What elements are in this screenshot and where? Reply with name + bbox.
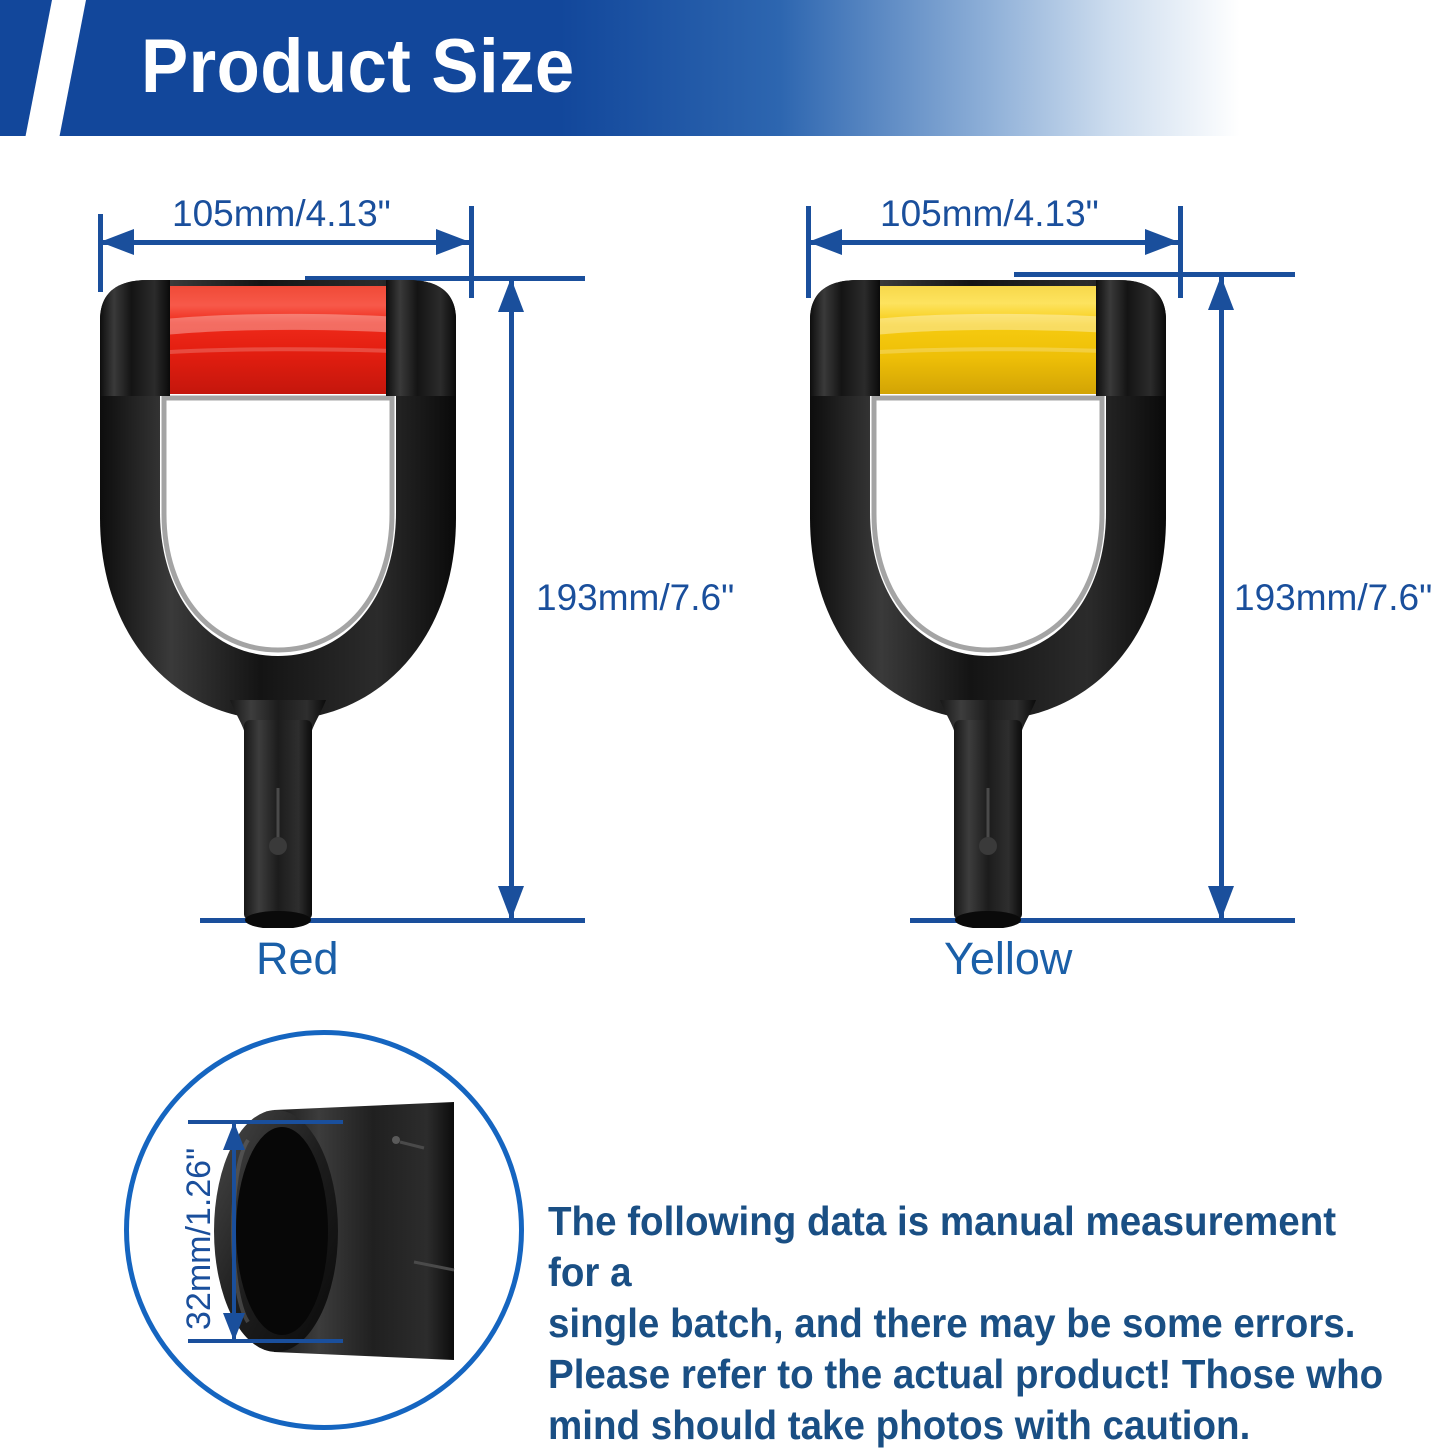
red-height-dimension-line	[509, 278, 514, 920]
disclaimer-line-4: mind should take photos with caution.	[548, 1400, 1394, 1451]
inset-dim-line	[232, 1122, 236, 1341]
disclaimer-line-1: The following data is manual measurement…	[548, 1196, 1394, 1298]
header-banner: Product Size	[0, 0, 1445, 136]
socket-pin-hole	[979, 837, 997, 855]
product-image-yellow	[788, 268, 1188, 928]
red-width-arrow-left-icon	[100, 229, 134, 255]
handle-grip	[838, 286, 1138, 394]
yellow-height-arrow-up-icon	[1208, 276, 1234, 310]
disclaimer-text: The following data is manual measurement…	[548, 1196, 1394, 1451]
yellow-handle-illustration	[788, 268, 1188, 928]
red-width-arrow-right-icon	[436, 229, 470, 255]
yellow-width-label: 105mm/4.13"	[880, 192, 1099, 236]
handle-grip	[128, 286, 428, 394]
handle-frame-opening	[160, 388, 396, 656]
yellow-height-arrow-down-icon	[1208, 886, 1234, 920]
red-width-dimension-line	[100, 240, 470, 245]
red-width-label: 105mm/4.13"	[172, 192, 391, 236]
handle-frame-opening	[870, 388, 1106, 656]
grip-end-cap-right	[386, 280, 456, 396]
socket-pin-hole	[269, 837, 287, 855]
inset-dim-extension-top	[188, 1120, 343, 1124]
product-label-yellow: Yellow	[944, 932, 1072, 986]
inset-dim-arrow-down-icon	[223, 1313, 245, 1341]
yellow-width-arrow-left-icon	[808, 229, 842, 255]
inset-dim-arrow-up-icon	[223, 1122, 245, 1150]
yellow-height-dimension-line	[1219, 276, 1224, 920]
disclaimer-line-2: single batch, and there may be some erro…	[548, 1298, 1394, 1349]
red-height-arrow-up-icon	[498, 278, 524, 312]
red-height-arrow-down-icon	[498, 886, 524, 920]
inset-dim-extension-bottom	[188, 1339, 343, 1343]
disclaimer-line-3: Please refer to the actual product! Thos…	[548, 1349, 1394, 1400]
red-handle-illustration	[78, 268, 478, 928]
product-label-red: Red	[256, 932, 339, 986]
red-height-label: 193mm/7.6"	[536, 576, 734, 620]
grip-end-cap-left	[810, 280, 880, 396]
yellow-width-arrow-right-icon	[1145, 229, 1179, 255]
yellow-height-label: 193mm/7.6"	[1234, 576, 1432, 620]
grip-end-cap-left	[100, 280, 170, 396]
product-image-red	[78, 268, 478, 928]
yellow-width-dimension-line	[808, 240, 1179, 245]
page-title: Product Size	[141, 17, 575, 117]
grip-end-cap-right	[1096, 280, 1166, 396]
inset-diameter-label: 32mm/1.26"	[180, 1148, 218, 1330]
